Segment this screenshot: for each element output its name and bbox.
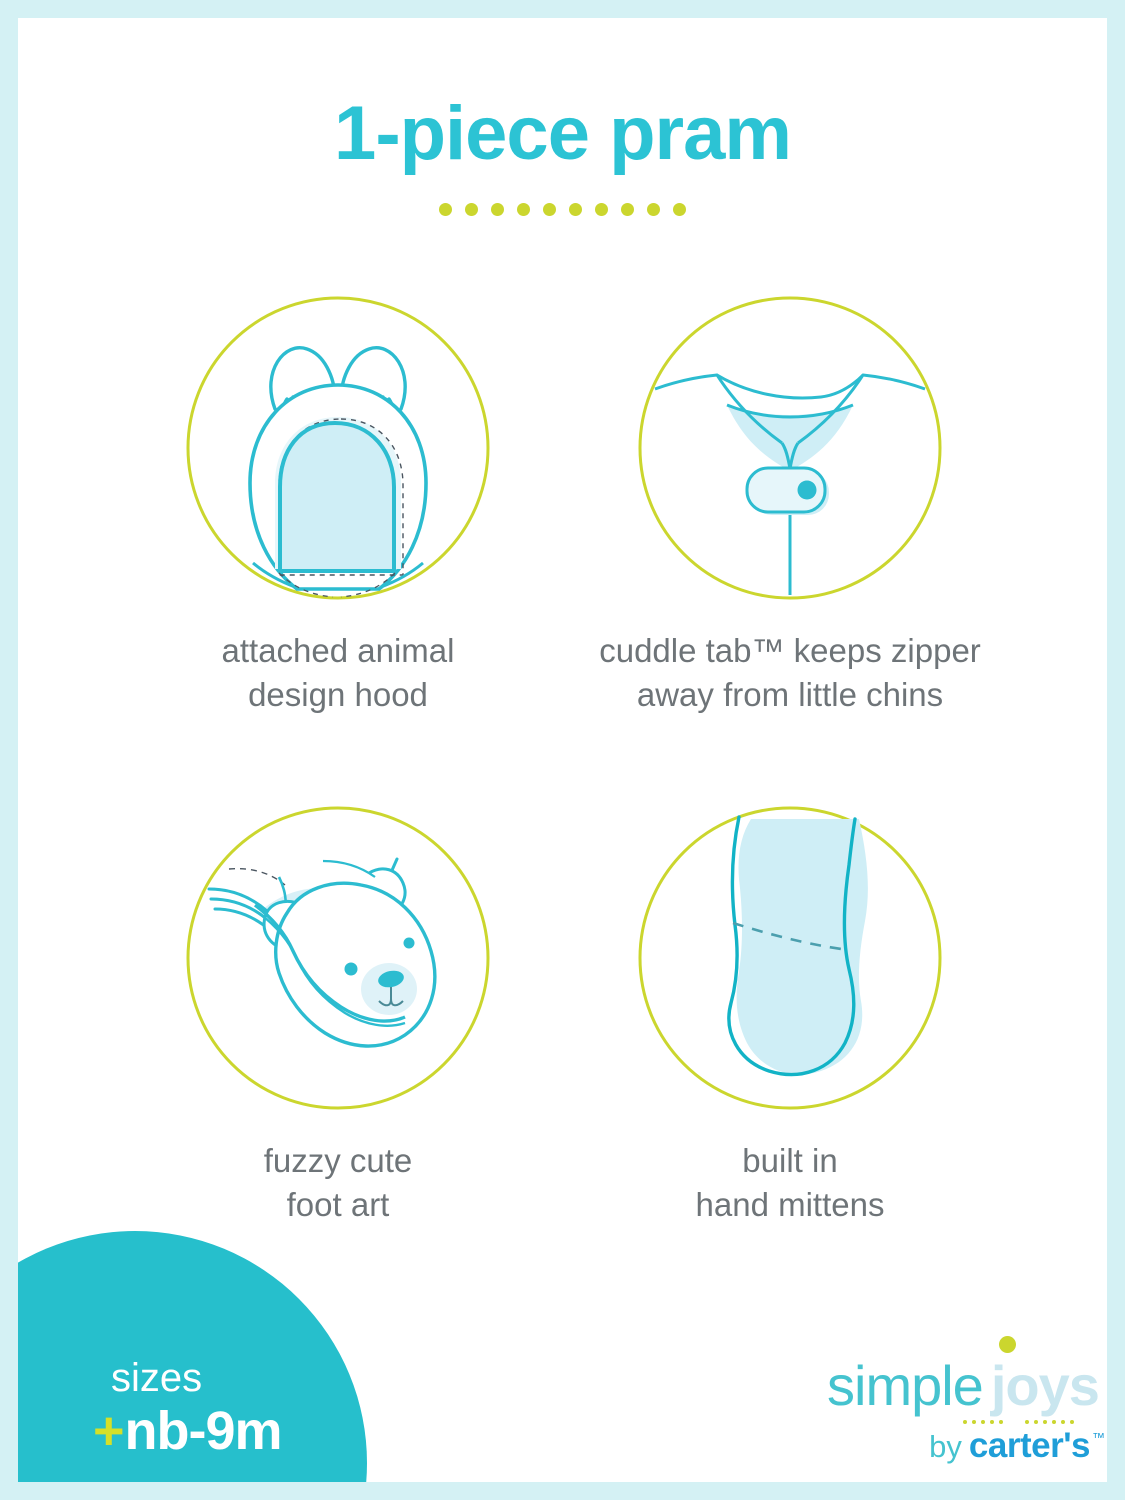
mitten-icon — [635, 803, 945, 1113]
sizes-range-value: nb-9m — [125, 1404, 282, 1458]
logo-byline-prefix: by — [929, 1431, 962, 1462]
caption-line-1: fuzzy cute — [264, 1142, 413, 1179]
feature-caption: built in hand mittens — [570, 1139, 1010, 1226]
logo-underline-dot — [1034, 1420, 1038, 1424]
logo-wordmark: simple joys — [813, 1358, 1107, 1414]
logo-brand-carters: carter's — [969, 1428, 1090, 1463]
logo-dot-underline-left — [963, 1420, 1003, 1424]
cuddle-tab-collar-icon — [635, 293, 945, 603]
logo-j-dot-icon — [999, 1336, 1016, 1353]
caption-line-1: attached animal — [222, 632, 455, 669]
feature-built-in-hand-mittens: built in hand mittens — [570, 803, 1010, 1226]
caption-line-1: cuddle tab™ keeps zipper — [599, 632, 981, 669]
logo-underline-dot — [981, 1420, 985, 1424]
feature-attached-animal-design-hood: attached animal design hood — [118, 293, 558, 716]
bear-foot-art-icon — [183, 803, 493, 1113]
feature-caption: attached animal design hood — [118, 629, 558, 716]
caption-line-2: foot art — [118, 1183, 558, 1227]
feature-caption: cuddle tab™ keeps zipper away from littl… — [570, 629, 1010, 716]
divider-dot — [673, 203, 686, 216]
logo-underline-dot — [990, 1420, 994, 1424]
sizes-label: sizes — [111, 1358, 282, 1398]
caption-line-2: hand mittens — [570, 1183, 1010, 1227]
logo-underline-dot — [999, 1420, 1003, 1424]
divider-dot — [569, 203, 582, 216]
logo-word-simple: simple — [827, 1358, 983, 1414]
logo-joys-wrap: joys — [991, 1358, 1099, 1414]
sizes-badge-text: sizes + nb-9m — [93, 1358, 282, 1458]
sizes-plus-sign: + — [93, 1404, 125, 1458]
divider-dot — [647, 203, 660, 216]
divider-dot — [517, 203, 530, 216]
caption-line-1: built in — [742, 1142, 837, 1179]
sizes-value-row: + nb-9m — [93, 1404, 282, 1458]
logo-underline-dot — [1052, 1420, 1056, 1424]
logo-trademark-symbol: ™ — [1092, 1430, 1105, 1445]
divider-dot — [543, 203, 556, 216]
logo-underline-dot — [1025, 1420, 1029, 1424]
white-panel: 1-piece pram — [18, 18, 1107, 1482]
page-title: 1-piece pram — [18, 90, 1107, 177]
logo-underline-dot — [1070, 1420, 1074, 1424]
title-dot-divider — [18, 203, 1107, 216]
divider-dot — [621, 203, 634, 216]
divider-dot — [491, 203, 504, 216]
logo-byline: by carter's ™ — [929, 1428, 1105, 1463]
feature-caption: fuzzy cute foot art — [118, 1139, 558, 1226]
divider-dot — [465, 203, 478, 216]
logo-word-joys: joys — [991, 1354, 1099, 1417]
caption-line-2: away from little chins — [570, 673, 1010, 717]
divider-dot — [439, 203, 452, 216]
infographic-page: 1-piece pram — [0, 0, 1125, 1500]
feature-fuzzy-cute-foot-art: fuzzy cute foot art — [118, 803, 558, 1226]
brand-logo: simple joys — [813, 1358, 1107, 1473]
bear-hood-icon — [183, 293, 493, 603]
feature-cuddle-tab: cuddle tab™ keeps zipper away from littl… — [570, 293, 1010, 716]
logo-underline-dot — [972, 1420, 976, 1424]
logo-underline-dot — [963, 1420, 967, 1424]
logo-dot-underline-right — [1025, 1420, 1074, 1424]
caption-line-2: design hood — [118, 673, 558, 717]
logo-underline-dot — [1043, 1420, 1047, 1424]
logo-underline-dot — [1061, 1420, 1065, 1424]
divider-dot — [595, 203, 608, 216]
